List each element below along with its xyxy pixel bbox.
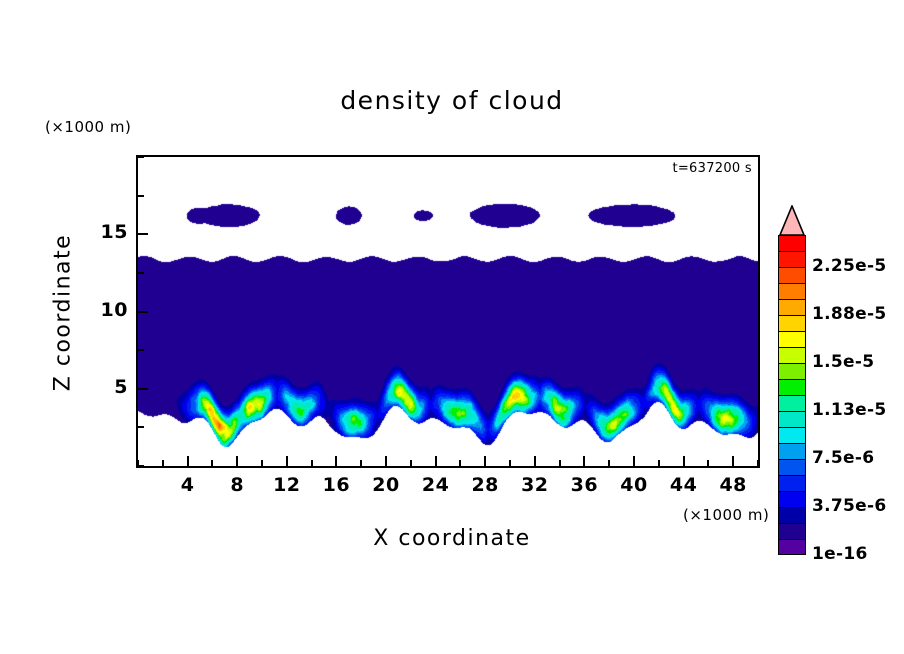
x-tick <box>534 456 536 466</box>
timestamp-annotation: t=637200 s <box>672 161 752 176</box>
colorbar-tick-label: 7.5e-6 <box>812 448 874 468</box>
x-tick <box>236 456 238 466</box>
x-tick <box>261 460 263 466</box>
colorbar-cell <box>778 331 806 347</box>
x-tick-label: 24 <box>416 474 456 496</box>
x-tick-label: 40 <box>614 474 654 496</box>
x-axis-title: X coordinate <box>0 526 904 551</box>
y-tick <box>138 156 144 158</box>
x-tick <box>459 460 461 466</box>
colorbar-cell <box>778 523 806 539</box>
colorbar-cell <box>778 475 806 491</box>
colorbar-tick-label: 1.13e-5 <box>812 400 886 420</box>
x-tick <box>162 460 164 466</box>
y-tick-label: 5 <box>86 376 128 398</box>
x-tick-label: 28 <box>465 474 505 496</box>
colorbar-cell <box>778 539 806 555</box>
x-tick <box>683 456 685 466</box>
y-tick <box>138 311 148 313</box>
colorbar-cell <box>778 379 806 395</box>
x-tick <box>583 456 585 466</box>
colorbar-cell <box>778 507 806 523</box>
colorbar-over-arrow <box>778 205 806 236</box>
colorbar-cell <box>778 443 806 459</box>
plot-area: t=637200 s <box>136 155 760 468</box>
x-tick <box>211 460 213 466</box>
x-tick <box>633 456 635 466</box>
x-tick-label: 16 <box>316 474 356 496</box>
y-axis-title: Z coordinate <box>51 208 76 418</box>
x-tick <box>658 460 660 466</box>
colorbar[interactable] <box>778 235 806 555</box>
y-tick <box>138 272 144 274</box>
x-tick <box>608 460 610 466</box>
x-tick-label: 12 <box>267 474 307 496</box>
colorbar-cell <box>778 235 806 251</box>
x-tick <box>385 456 387 466</box>
y-tick <box>138 465 144 467</box>
colorbar-tick-label: 2.25e-5 <box>812 256 886 276</box>
colorbar-cell <box>778 411 806 427</box>
y-tick <box>138 349 144 351</box>
colorbar-cell <box>778 427 806 443</box>
y-tick <box>138 233 148 235</box>
x-tick <box>732 456 734 466</box>
colorbar-cell <box>778 283 806 299</box>
x-tick <box>187 456 189 466</box>
y-tick <box>138 388 148 390</box>
colorbar-cell <box>778 315 806 331</box>
y-tick-label: 15 <box>86 221 128 243</box>
x-tick-label: 4 <box>168 474 208 496</box>
x-tick-label: 48 <box>713 474 753 496</box>
x-tick <box>707 460 709 466</box>
y-tick <box>138 195 144 197</box>
colorbar-cell <box>778 491 806 507</box>
colorbar-tick-label: 1.5e-5 <box>812 352 874 372</box>
x-tick <box>484 456 486 466</box>
colorbar-cell <box>778 347 806 363</box>
x-tick <box>360 460 362 466</box>
x-axis-unit-label: (×1000 m) <box>683 506 769 524</box>
page-title: density of cloud <box>0 86 904 115</box>
x-tick-label: 36 <box>564 474 604 496</box>
x-tick <box>335 456 337 466</box>
colorbar-cell <box>778 459 806 475</box>
x-tick <box>559 460 561 466</box>
x-tick <box>286 456 288 466</box>
colorbar-cell <box>778 395 806 411</box>
x-tick <box>757 460 759 466</box>
cloud-density-field <box>138 157 758 466</box>
x-tick-label: 44 <box>664 474 704 496</box>
colorbar-tick-label: 3.75e-6 <box>812 496 886 516</box>
x-tick <box>509 460 511 466</box>
colorbar-tick-label: 1.88e-5 <box>812 304 886 324</box>
x-tick <box>435 456 437 466</box>
figure-canvas: density of cloud (×1000 m) (×1000 m) X c… <box>0 0 904 654</box>
x-tick <box>311 460 313 466</box>
y-tick <box>138 426 144 428</box>
colorbar-cell <box>778 251 806 267</box>
x-tick-label: 8 <box>217 474 257 496</box>
x-tick-label: 32 <box>515 474 555 496</box>
colorbar-cell <box>778 267 806 283</box>
x-tick-label: 20 <box>366 474 406 496</box>
y-axis-unit-label: (×1000 m) <box>45 118 131 136</box>
x-tick <box>410 460 412 466</box>
colorbar-tick-label: 1e-16 <box>812 544 868 564</box>
colorbar-cell <box>778 363 806 379</box>
colorbar-cell <box>778 299 806 315</box>
y-tick-label: 10 <box>86 299 128 321</box>
